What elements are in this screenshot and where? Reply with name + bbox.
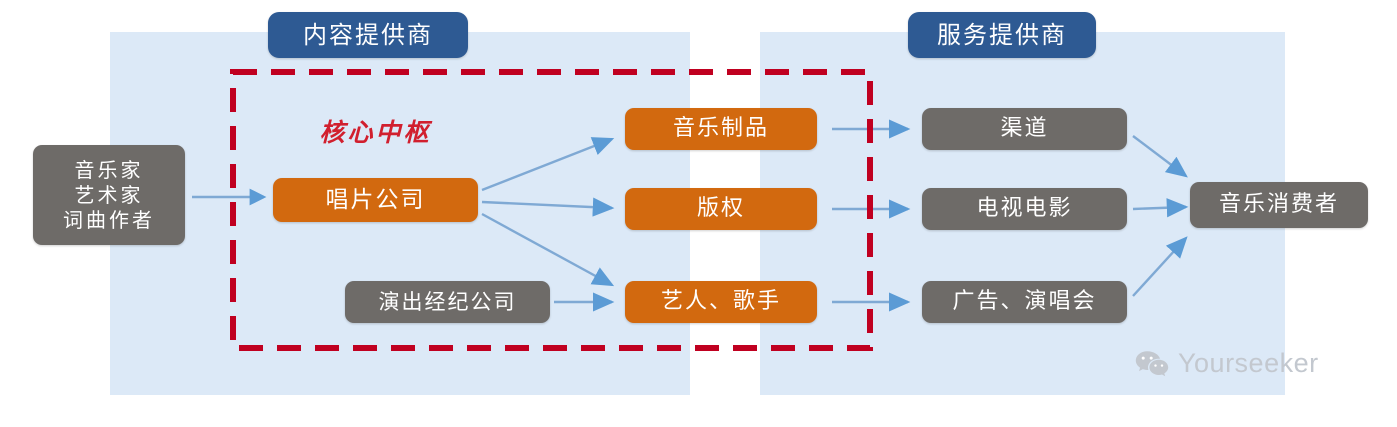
node-music-products: 音乐制品 bbox=[625, 108, 817, 150]
node-performance-agency: 演出经纪公司 bbox=[345, 281, 550, 323]
node-music-consumers: 音乐消费者 bbox=[1190, 182, 1368, 228]
node-creators-line-3: 词曲作者 bbox=[63, 208, 155, 233]
node-tv-film: 电视电影 bbox=[922, 188, 1127, 230]
node-artists-singers: 艺人、歌手 bbox=[625, 281, 817, 323]
node-creators-line-2: 艺术家 bbox=[75, 183, 144, 208]
node-copyright-label: 版权 bbox=[697, 195, 745, 223]
node-creators: 音乐家 艺术家 词曲作者 bbox=[33, 145, 185, 245]
watermark: Yourseeker bbox=[1135, 348, 1319, 379]
node-record-company-label: 唱片公司 bbox=[326, 186, 426, 215]
wechat-icon bbox=[1135, 350, 1169, 378]
node-artists-singers-label: 艺人、歌手 bbox=[661, 288, 781, 316]
core-hub-label: 核心中枢 bbox=[273, 118, 478, 148]
node-ads-concerts: 广告、演唱会 bbox=[922, 281, 1127, 323]
node-performance-agency-label: 演出经纪公司 bbox=[379, 289, 517, 315]
header-service-provider: 服务提供商 bbox=[908, 12, 1096, 58]
node-record-company: 唱片公司 bbox=[273, 178, 478, 222]
node-tv-film-label: 电视电影 bbox=[976, 195, 1072, 223]
node-music-products-label: 音乐制品 bbox=[673, 115, 769, 143]
node-copyright: 版权 bbox=[625, 188, 817, 230]
node-creators-line-1: 音乐家 bbox=[75, 158, 144, 183]
node-ads-concerts-label: 广告、演唱会 bbox=[952, 288, 1096, 316]
header-content-provider: 内容提供商 bbox=[268, 12, 468, 58]
header-service-provider-label: 服务提供商 bbox=[937, 20, 1067, 50]
core-hub-label-text: 核心中枢 bbox=[319, 117, 431, 148]
diagram-canvas: 内容提供商 服务提供商 音乐家 艺术家 词曲作者 核心中枢 唱片公司 演出经纪公… bbox=[0, 0, 1397, 427]
node-channel: 渠道 bbox=[922, 108, 1127, 150]
header-content-provider-label: 内容提供商 bbox=[303, 20, 433, 50]
node-music-consumers-label: 音乐消费者 bbox=[1219, 191, 1339, 219]
watermark-text: Yourseeker bbox=[1178, 348, 1319, 379]
node-channel-label: 渠道 bbox=[1000, 115, 1048, 143]
